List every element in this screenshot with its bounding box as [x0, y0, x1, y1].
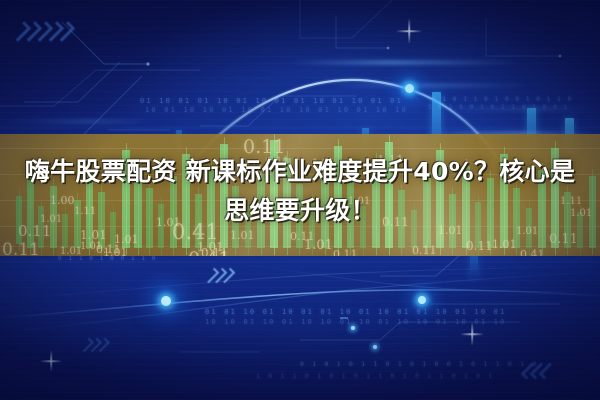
headline-text: 嗨牛股票配资 新课标作业难度提升40%？核心是 思维要升级！ [0, 152, 600, 230]
headline-line-2: 思维要升级！ [0, 191, 600, 230]
headline-line-1: 嗨牛股票配资 新课标作业难度提升40%？核心是 [25, 157, 575, 186]
banner-image: 01 10 01 01 10 01 10 01 01 10 01 10 01 0… [0, 0, 600, 400]
